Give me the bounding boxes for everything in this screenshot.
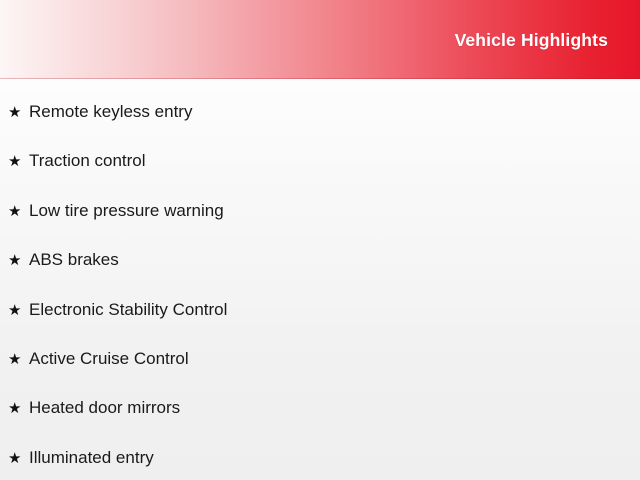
star-bullet-icon: ★ [8,204,29,219]
list-item: ★ Active Cruise Control [0,350,640,399]
star-bullet-icon: ★ [8,154,29,169]
list-item-label: Electronic Stability Control [29,301,227,318]
list-item-label: Traction control [29,152,146,169]
list-item: ★ Illuminated entry [0,449,640,480]
list-item: ★ Traction control [0,152,640,201]
star-bullet-icon: ★ [8,451,29,466]
page-title: Vehicle Highlights [455,30,640,51]
list-item-label: Illuminated entry [29,449,154,466]
list-item-label: ABS brakes [29,251,119,268]
vehicle-highlights-list: ★ Remote keyless entry ★ Traction contro… [0,79,640,480]
list-item-label: Low tire pressure warning [29,202,224,219]
vehicle-highlights-page: Vehicle Highlights ★ Remote keyless entr… [0,0,640,480]
star-bullet-icon: ★ [8,253,29,268]
header-banner: Vehicle Highlights [0,0,640,79]
list-item: ★ Low tire pressure warning [0,202,640,251]
star-bullet-icon: ★ [8,401,29,416]
list-item-label: Active Cruise Control [29,350,189,367]
star-bullet-icon: ★ [8,352,29,367]
list-item: ★ ABS brakes [0,251,640,300]
list-item: ★ Electronic Stability Control [0,301,640,350]
star-bullet-icon: ★ [8,105,29,120]
list-item: ★ Heated door mirrors [0,399,640,448]
list-item-label: Remote keyless entry [29,103,192,120]
list-item-label: Heated door mirrors [29,399,180,416]
list-item: ★ Remote keyless entry [0,79,640,152]
star-bullet-icon: ★ [8,303,29,318]
